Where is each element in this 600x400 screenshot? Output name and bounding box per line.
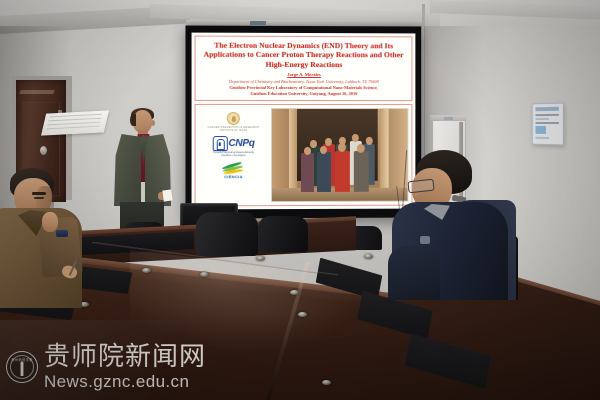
ciencia-wordmark: CIÊNCIA (224, 174, 243, 179)
cnpq-logo-row: CNPq (212, 136, 254, 151)
notice-line (536, 122, 559, 124)
slide-title-line-2: Applications to Cancer Proton Therapy Re… (201, 50, 407, 60)
attendee-left-eye (34, 197, 44, 199)
table-grommet (290, 290, 299, 295)
slide-logo-column: CANCER PREVENTION & RESEARCH INSTITUTE O… (199, 108, 269, 202)
notepad-line (48, 118, 101, 122)
paper-notepad[interactable] (41, 110, 109, 135)
watermark-organization: 贵师院新闻网 (44, 344, 206, 370)
framed-wall-notice (532, 103, 564, 146)
slide-affiliation-3: Guizhou Education University, Guiyang, A… (201, 91, 407, 97)
chair-foreground-left[interactable] (196, 212, 258, 256)
research-group-photo (271, 108, 408, 202)
projection-screen: The Electron Nuclear Dynamics (END) Theo… (185, 26, 421, 219)
cprit-seal-icon (227, 112, 240, 125)
notice-line (536, 118, 549, 120)
presenter-ear (151, 120, 155, 126)
conference-room-photo: The Electron Nuclear Dynamics (END) Theo… (0, 0, 600, 400)
photo-person (301, 153, 315, 192)
ciencia-logo: CIÊNCIA (220, 163, 246, 179)
notice-blue-block (536, 126, 546, 134)
projection-screen-clip (250, 21, 266, 25)
cnpq-emblem-icon (212, 136, 227, 151)
table-grommet (142, 268, 151, 273)
table-grommet (256, 256, 265, 261)
presentation-slide: The Electron Nuclear Dynamics (END) Theo… (192, 33, 416, 210)
cnpq-wordmark: CNPq (228, 139, 254, 149)
attendee-left-brow (32, 192, 46, 195)
door-knob[interactable] (40, 146, 47, 155)
cnpq-logo: CNPq Conselho Nacional de Desenvolviment… (212, 136, 254, 158)
photo-person-head (310, 140, 317, 148)
cprit-label-line-2: INSTITUTE OF TEXAS (220, 130, 248, 132)
chair-foreground-right[interactable] (258, 216, 308, 252)
presenter-held-paper (162, 189, 172, 201)
notice-line (536, 114, 559, 116)
door-highlight (19, 90, 55, 94)
attendee-left-hand (42, 212, 58, 232)
photo-person (354, 151, 369, 191)
watermark: 贵州师范学院 贵师院新闻网 News.gznc.edu.cn (6, 344, 206, 390)
slide-title-block: The Electron Nuclear Dynamics (END) Theo… (195, 36, 413, 102)
slide-title-line-3: High-Energy Reactions (201, 60, 407, 70)
watermark-text: 贵师院新闻网 News.gznc.edu.cn (44, 344, 206, 390)
attendee-right-arm (388, 246, 440, 300)
cnpq-subtitle-2: Científico e Tecnológico (221, 155, 245, 158)
university-seal-icon: 贵州师范学院 (6, 351, 38, 383)
photo-person-head (366, 137, 373, 145)
notice-line (536, 137, 549, 139)
table-grommet (298, 312, 307, 317)
attendee-right (398, 150, 516, 300)
notepad-line (47, 122, 100, 126)
table-grommet (364, 254, 373, 259)
notepad-line (49, 114, 102, 118)
photo-person (317, 152, 331, 191)
photo-person-head (325, 138, 332, 146)
attendee-left-wristwatch (56, 230, 68, 237)
photo-person (335, 151, 350, 192)
slide-body: CANCER PREVENTION & RESEARCH INSTITUTE O… (195, 104, 413, 206)
attendee-right-badge (420, 236, 430, 244)
ciencia-swoosh-icon (220, 163, 246, 174)
table-grommet (322, 380, 331, 385)
attendee-left (0, 168, 102, 308)
presenter-hair-side (130, 114, 136, 126)
presenter-standing (112, 108, 174, 238)
cprit-logo: CANCER PREVENTION & RESEARCH INSTITUTE O… (208, 112, 260, 132)
slide-affiliation-1: Department of Chemistry and Biochemistry… (201, 79, 407, 85)
watermark-url: News.gznc.edu.cn (44, 373, 206, 390)
slide-affiliation-2: Guizhou Provincial Key Laboratory of Com… (201, 84, 407, 90)
notice-header-band (536, 107, 559, 111)
photo-person-head (304, 147, 311, 155)
table-grommet (200, 272, 209, 277)
notepad-line (46, 126, 99, 130)
cprit-label-line-1: CANCER PREVENTION & RESEARCH (208, 126, 260, 129)
presenter-jacket-left (114, 134, 141, 206)
slide-author: Jorge A. Morales (201, 72, 407, 77)
